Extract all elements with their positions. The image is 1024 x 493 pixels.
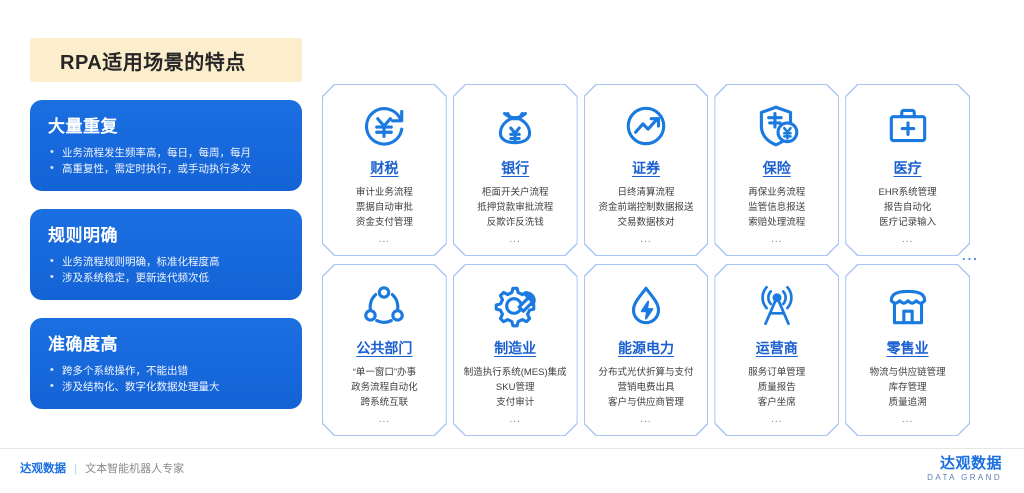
industry-item: 柜面开关户流程 [477, 185, 553, 200]
feature-bullet-list: 跨多个系统操作，不能出错 涉及结构化、数字化数据处理量大 [48, 363, 286, 395]
feature-title: 规则明确 [48, 221, 286, 246]
gear-wrench-icon [490, 278, 540, 334]
footer-brand: 达观数据 [20, 460, 66, 476]
industry-item: 营销电费出具 [598, 380, 693, 395]
industry-item: 分布式光伏折算与支付 [598, 365, 693, 380]
industry-card-manufacturing[interactable]: 制造业 制造执行系统(MES)集成 SKU管理 支付审计 ... [453, 264, 578, 436]
industry-grid: 财税 审计业务流程 票据自动审批 资金支付管理 ... [322, 84, 970, 436]
industry-more: ... [510, 414, 521, 425]
industry-items: “单一窗口”办事 政务流程自动化 跨系统互联 [351, 365, 418, 410]
industry-card-insurance[interactable]: 保险 再保业务流程 监管信息报送 索赔处理流程 ... [714, 84, 839, 256]
footer-tagline: 文本智能机器人专家 [85, 460, 184, 476]
industry-items: EHR系统管理 报告自动化 医疗记录输入 [879, 185, 937, 230]
company-logo: 达观数据 DATA GRAND [927, 455, 1002, 483]
industry-item: 质量追溯 [870, 395, 946, 410]
feature-card-repetition: 大量重复 业务流程发生频率高，每日，每周，每月 高重复性，需定时执行，或手动执行… [30, 100, 302, 191]
industry-item: 日终清算流程 [598, 185, 693, 200]
footer-separator: | [74, 461, 77, 475]
feature-card-clear-rules: 规则明确 业务流程规则明确，标准化程度高 涉及系统稳定，更新迭代频次低 [30, 209, 302, 300]
storefront-icon [883, 278, 933, 334]
signal-tower-icon [752, 278, 802, 334]
shield-yen-icon [752, 98, 802, 154]
industry-more: ... [902, 234, 913, 245]
industry-item: 票据自动审批 [356, 200, 413, 215]
industry-item: 支付审计 [464, 395, 567, 410]
industry-item: 物流与供应链管理 [870, 365, 946, 380]
industry-item: EHR系统管理 [879, 185, 937, 200]
industry-items: 制造执行系统(MES)集成 SKU管理 支付审计 [464, 365, 567, 410]
feature-card-high-accuracy: 准确度高 跨多个系统操作，不能出错 涉及结构化、数字化数据处理量大 [30, 318, 302, 409]
feature-bullet: 涉及结构化、数字化数据处理量大 [48, 379, 286, 395]
feature-bullet-list: 业务流程发生频率高，每日，每周，每月 高重复性，需定时执行，或手动执行多次 [48, 145, 286, 177]
feature-bullet: 高重复性，需定时执行，或手动执行多次 [48, 161, 286, 177]
industry-item: 抵押贷款审批流程 [477, 200, 553, 215]
industry-name: 能源电力 [618, 338, 674, 358]
industry-item: 医疗记录输入 [879, 215, 937, 230]
footer-brand-block: 达观数据 | 文本智能机器人专家 [20, 460, 184, 476]
page-title: RPA适用场景的特点 [60, 46, 246, 75]
industry-more: ... [902, 414, 913, 425]
industry-items: 服务订单管理 质量报告 客户坐席 [748, 365, 805, 410]
industry-items: 分布式光伏折算与支付 营销电费出具 客户与供应商管理 [598, 365, 693, 410]
industry-items: 再保业务流程 监管信息报送 索赔处理流程 [748, 185, 805, 230]
industry-item: 跨系统互联 [351, 395, 418, 410]
industry-more: ... [640, 414, 651, 425]
money-bag-icon [490, 98, 540, 154]
feature-title: 准确度高 [48, 330, 286, 355]
industry-item: 索赔处理流程 [748, 215, 805, 230]
industry-name: 医疗 [894, 158, 922, 178]
feature-title: 大量重复 [48, 112, 286, 137]
industry-name: 制造业 [494, 338, 536, 358]
industry-item: 资金支付管理 [356, 215, 413, 230]
industry-item: 报告自动化 [879, 200, 937, 215]
industry-card-retail[interactable]: 零售业 物流与供应链管理 库存管理 质量追溯 ... [845, 264, 970, 436]
grid-more-indicator: ... [962, 248, 979, 263]
feature-bullet: 跨多个系统操作，不能出错 [48, 363, 286, 379]
industry-name: 保险 [763, 158, 791, 178]
industry-name: 证券 [632, 158, 660, 178]
industry-card-banking[interactable]: 银行 柜面开关户流程 抵押贷款审批流程 反欺诈反洗钱 ... [453, 84, 578, 256]
industry-name: 财税 [370, 158, 398, 178]
logo-cn: 达观数据 [927, 455, 1002, 472]
industry-item: SKU管理 [464, 380, 567, 395]
industry-card-public-sector[interactable]: 公共部门 “单一窗口”办事 政务流程自动化 跨系统互联 ... [322, 264, 447, 436]
industry-item: 客户坐席 [748, 395, 805, 410]
page-title-banner: RPA适用场景的特点 [30, 38, 302, 82]
footer-divider [0, 448, 1024, 449]
industry-item: 制造执行系统(MES)集成 [464, 365, 567, 380]
energy-drop-icon [621, 278, 671, 334]
industry-name: 零售业 [887, 338, 929, 358]
industry-more: ... [510, 234, 521, 245]
industry-item: 服务订单管理 [748, 365, 805, 380]
industry-card-energy-power[interactable]: 能源电力 分布式光伏折算与支付 营销电费出具 客户与供应商管理 ... [584, 264, 709, 436]
industry-card-securities[interactable]: 证券 日终清算流程 资金前端控制数据报送 交易数据核对 ... [584, 84, 709, 256]
industry-item: “单一窗口”办事 [351, 365, 418, 380]
industry-items: 柜面开关户流程 抵押贷款审批流程 反欺诈反洗钱 [477, 185, 553, 230]
industry-more: ... [640, 234, 651, 245]
industry-card-telecom[interactable]: 运营商 服务订单管理 质量报告 客户坐席 ... [714, 264, 839, 436]
industry-item: 审计业务流程 [356, 185, 413, 200]
industry-card-healthcare[interactable]: 医疗 EHR系统管理 报告自动化 医疗记录输入 ... [845, 84, 970, 256]
industry-name: 运营商 [756, 338, 798, 358]
industry-item: 库存管理 [870, 380, 946, 395]
yen-refresh-icon [359, 98, 409, 154]
left-panel: RPA适用场景的特点 大量重复 业务流程发生频率高，每日，每周，每月 高重复性，… [30, 38, 302, 409]
feature-bullet-list: 业务流程规则明确，标准化程度高 涉及系统稳定，更新迭代频次低 [48, 254, 286, 286]
industry-more: ... [379, 234, 390, 245]
logo-en: DATA GRAND [927, 472, 1002, 483]
industry-item: 再保业务流程 [748, 185, 805, 200]
medical-case-icon [883, 98, 933, 154]
industry-item: 交易数据核对 [598, 215, 693, 230]
network-nodes-icon [359, 278, 409, 334]
industry-item: 质量报告 [748, 380, 805, 395]
industry-more: ... [771, 414, 782, 425]
industry-name: 公共部门 [356, 338, 412, 358]
industry-row-1: 财税 审计业务流程 票据自动审批 资金支付管理 ... [322, 84, 970, 256]
industry-more: ... [771, 234, 782, 245]
industry-items: 日终清算流程 资金前端控制数据报送 交易数据核对 [598, 185, 693, 230]
industry-item: 反欺诈反洗钱 [477, 215, 553, 230]
industry-more: ... [379, 414, 390, 425]
industry-items: 物流与供应链管理 库存管理 质量追溯 [870, 365, 946, 410]
industry-item: 客户与供应商管理 [598, 395, 693, 410]
industry-row-2: 公共部门 “单一窗口”办事 政务流程自动化 跨系统互联 ... [322, 264, 970, 436]
feature-bullet: 涉及系统稳定，更新迭代频次低 [48, 270, 286, 286]
slide-root: RPA适用场景的特点 大量重复 业务流程发生频率高，每日，每周，每月 高重复性，… [0, 0, 1024, 493]
industry-items: 审计业务流程 票据自动审批 资金支付管理 [356, 185, 413, 230]
trend-chart-icon [621, 98, 671, 154]
industry-item: 政务流程自动化 [351, 380, 418, 395]
industry-item: 监管信息报送 [748, 200, 805, 215]
feature-bullet: 业务流程规则明确，标准化程度高 [48, 254, 286, 270]
industry-name: 银行 [501, 158, 529, 178]
industry-item: 资金前端控制数据报送 [598, 200, 693, 215]
industry-card-finance-tax[interactable]: 财税 审计业务流程 票据自动审批 资金支付管理 ... [322, 84, 447, 256]
feature-bullet: 业务流程发生频率高，每日，每周，每月 [48, 145, 286, 161]
